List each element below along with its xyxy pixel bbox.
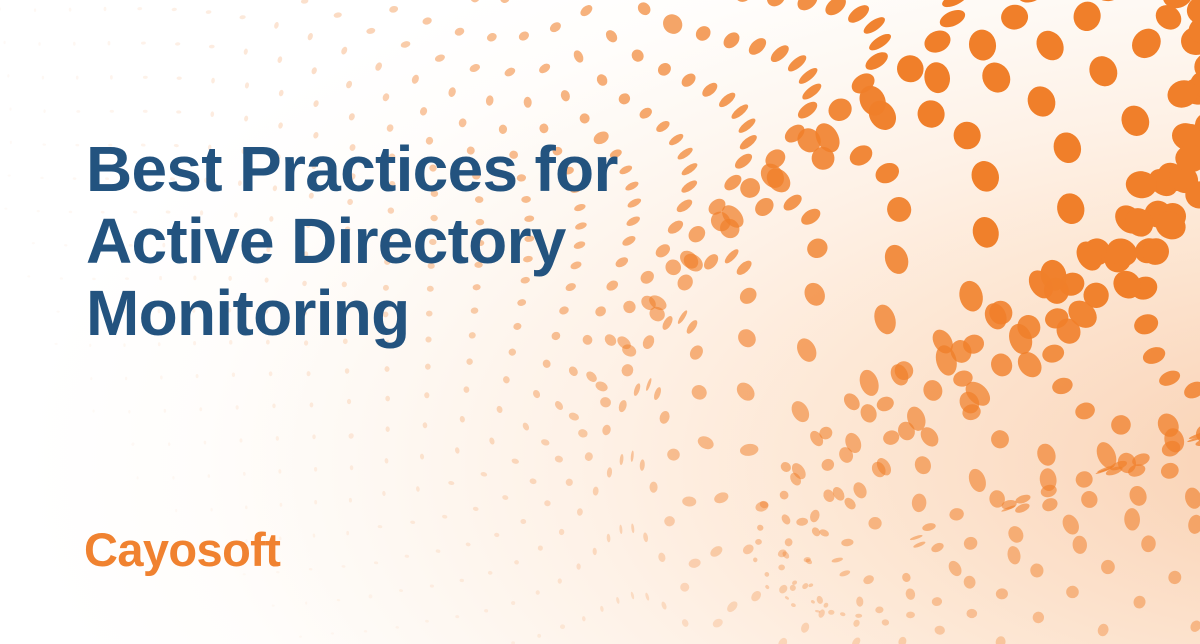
page-title: Best Practices for Active Directory Moni… — [86, 133, 618, 349]
cayosoft-logo: Cayosoft — [84, 524, 280, 576]
marketing-banner: Best Practices for Active Directory Moni… — [0, 0, 1200, 644]
